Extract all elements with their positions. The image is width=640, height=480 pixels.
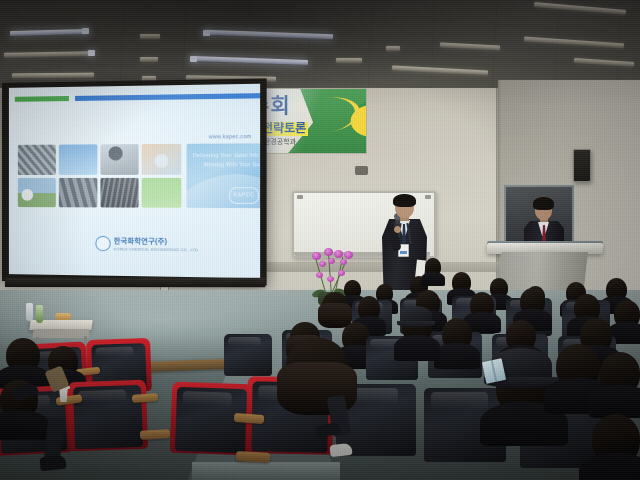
baseball-cap	[400, 306, 432, 324]
aisle-step	[192, 462, 340, 480]
audience-member-head	[286, 338, 348, 396]
projection-screen: www.kapec.com Delivering Your Value Into…	[2, 78, 267, 285]
audience-member-head	[6, 338, 40, 372]
projected-slide: www.kapec.com Delivering Your Value Into…	[9, 84, 260, 278]
audience-member-head	[614, 300, 640, 328]
whiteboard-corner-clip	[297, 195, 303, 199]
program-booklet	[482, 358, 506, 384]
slide-thumbnail	[100, 177, 139, 207]
audience-member-head	[470, 292, 494, 318]
projector-mount-icon	[355, 166, 368, 175]
orchid-bloom	[338, 270, 345, 276]
audience-member-head	[322, 292, 348, 319]
slide-thumbnail	[100, 144, 139, 174]
side-table-apron	[32, 329, 89, 338]
slide-accent-bar-green	[15, 96, 69, 102]
audience-member-head	[452, 272, 471, 293]
ceiling	[0, 0, 640, 92]
slide-thumbnail	[18, 145, 56, 175]
slide-tagline-panel: Delivering Your Value Into Winning With …	[187, 143, 261, 208]
audience-member-head	[600, 352, 640, 394]
slide-thumbnail-grid	[18, 144, 181, 208]
presenter-hand	[394, 226, 401, 233]
ceiling-shadow	[0, 0, 640, 92]
slide-thumbnail	[59, 144, 97, 174]
audience-member-head	[442, 318, 472, 350]
water-bottle	[26, 303, 33, 321]
seat-armrest	[140, 429, 170, 440]
slide-thumbnail	[142, 144, 181, 174]
slide-thumbnail	[59, 177, 97, 207]
seat-armrest	[236, 451, 270, 463]
orchid-bloom	[324, 248, 333, 256]
slide-footer-english-name: KOREA CHEMICAL ENGINEERING CO., LTD	[114, 247, 198, 252]
slide-footer-logo-block: 한국화학연구(주) KOREA CHEMICAL ENGINEERING CO.…	[95, 236, 198, 252]
orchid-bloom	[319, 261, 326, 267]
wall-speaker-icon	[573, 149, 591, 182]
audience-member-head	[425, 258, 441, 276]
slide-thumbnail	[18, 177, 56, 207]
screen-bottom-bar	[5, 278, 265, 287]
audience-member-shoe	[329, 443, 352, 457]
slide-thumbnail	[142, 177, 181, 207]
orchid-bloom	[340, 259, 347, 265]
slide-accent-bar-blue	[75, 93, 260, 101]
audience-member-shoe	[39, 455, 66, 472]
orchid-bloom	[328, 258, 335, 264]
audience-member-head	[556, 344, 600, 388]
snack-plate	[55, 313, 71, 320]
photograph-auditorium-presentation: 수회 강전략토론 학교 환경공학과 www.kapec.com Deliveri…	[0, 0, 640, 480]
slide-tagline-line1: Delivering Your Value Into	[193, 153, 260, 160]
slide-url-text: www.kapec.com	[209, 134, 252, 141]
auditorium-seat[interactable]	[224, 334, 272, 376]
seat-backrest	[224, 334, 272, 376]
slide-footer-korean-name: 한국화학연구(주)	[114, 236, 198, 247]
audience-member-head	[592, 414, 640, 464]
slide-tagline-line2: Winning With Your Success	[203, 162, 260, 168]
audience-member-head	[606, 278, 627, 301]
orchid-bloom	[312, 252, 321, 260]
presenter-hair	[533, 197, 554, 210]
company-logo-icon	[95, 236, 110, 251]
beverage-bottle	[36, 305, 43, 323]
orchid-bloom	[316, 272, 323, 278]
audience-member-head	[520, 288, 545, 315]
orchid-bloom	[327, 276, 334, 282]
orchid-bloom	[344, 251, 353, 259]
audience-member-head	[358, 296, 380, 321]
orchid-bloom	[334, 250, 343, 258]
slide-company-logo: KAPEC	[229, 187, 259, 204]
presenter-hair	[393, 194, 416, 207]
